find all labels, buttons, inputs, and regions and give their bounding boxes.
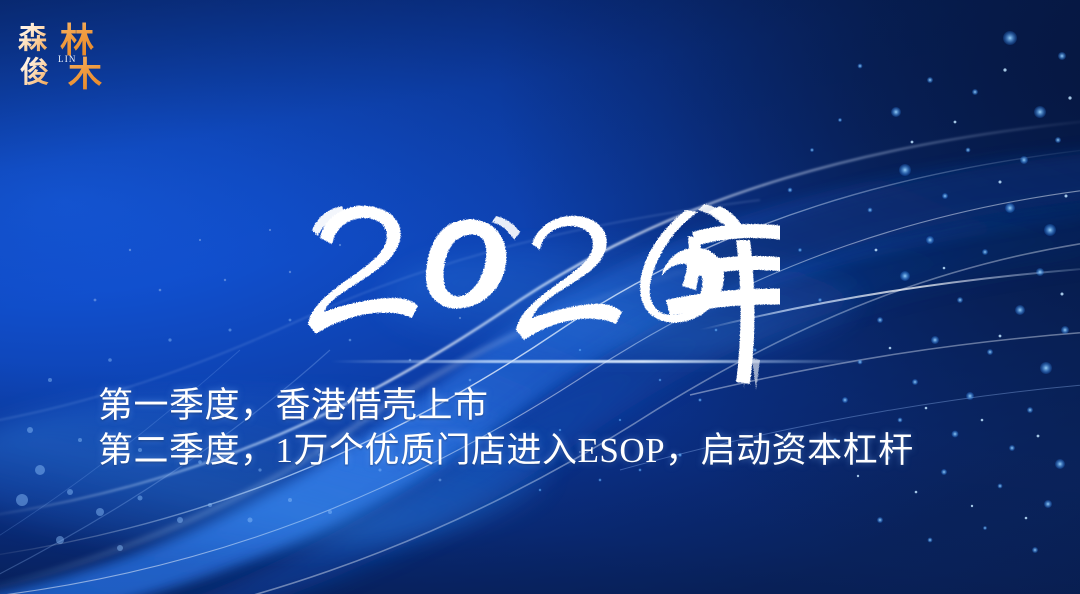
body-line-1: 第一季度，香港借壳上市	[98, 383, 1028, 428]
body-line-2: 第二季度，1万个优质门店进入ESOP，启动资本杠杆	[98, 428, 1028, 473]
slide-canvas: 森 俊 林 木 LIN 2026年	[0, 0, 1080, 594]
slide-body-text: 第一季度，香港借壳上市 第二季度，1万个优质门店进入ESOP，启动资本杠杆	[98, 383, 1028, 473]
brand-logo[interactable]: 森 俊 林 木 LIN	[14, 12, 118, 92]
logo-char-sen: 森	[18, 21, 48, 55]
slide-title: 2026年	[300, 178, 780, 393]
logo-latin-text: LIN	[58, 54, 77, 64]
logo-char-jun: 俊	[20, 55, 49, 89]
